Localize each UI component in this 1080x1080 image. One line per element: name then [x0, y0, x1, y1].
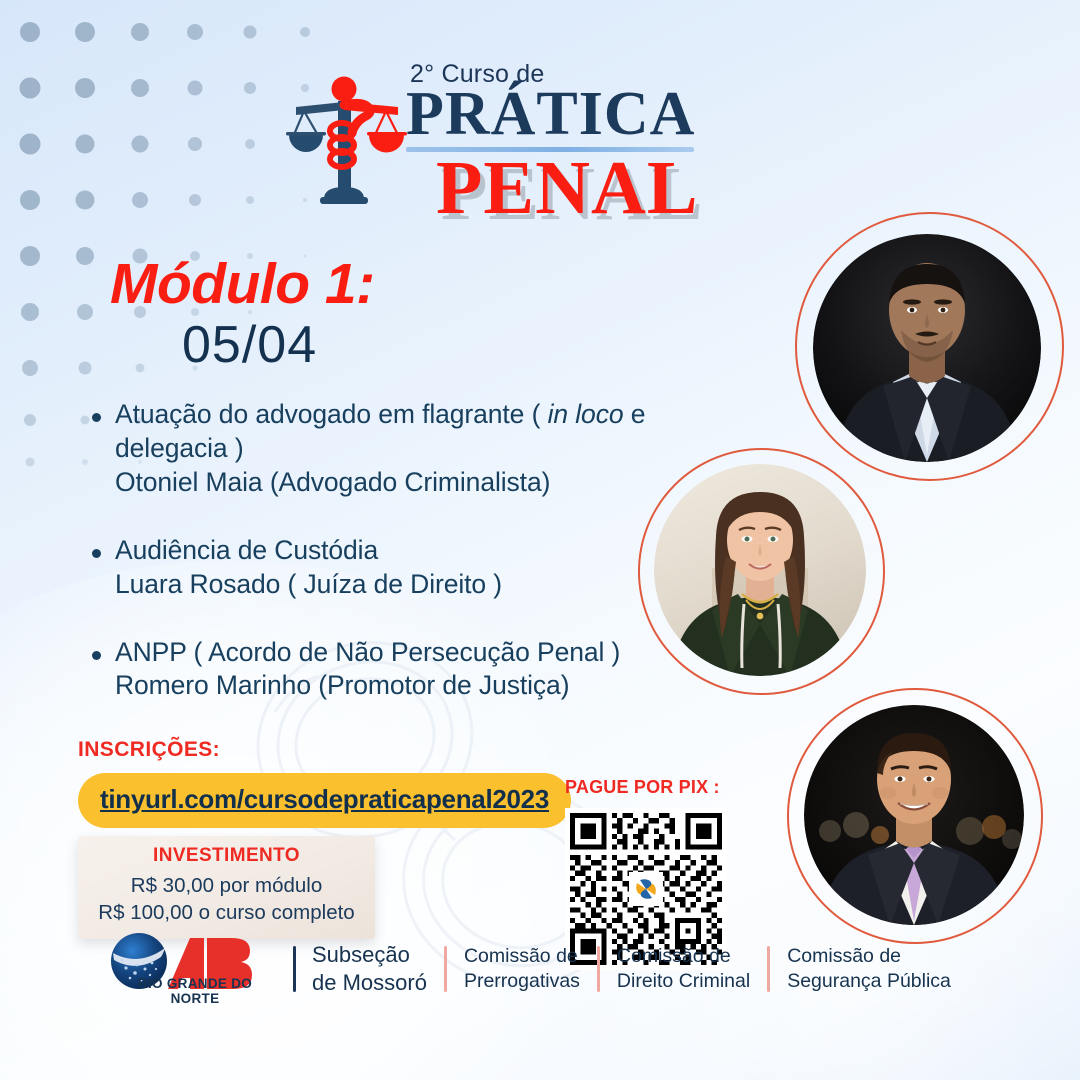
list-item: Atuação do advogado em flagrante ( in lo… — [92, 398, 712, 500]
header-title-block: 2° Curso de PRÁTICA PENAL — [404, 60, 724, 224]
commission-line1: Comissão de — [617, 944, 750, 969]
signup-block: INSCRIÇÕES: tinyurl.com/cursodepraticape… — [78, 738, 528, 828]
portrait-otoniel-maia — [795, 212, 1065, 482]
commission-line2: Direito Criminal — [617, 969, 750, 994]
commission-line1: Comissão de — [787, 944, 951, 969]
portrait-romero-marinho — [787, 688, 1045, 946]
title-penal: PENAL — [436, 154, 724, 224]
topic-title-pre: Atuação do advogado em flagrante ( — [115, 399, 548, 429]
footer-divider — [597, 946, 600, 992]
footer-divider — [767, 946, 770, 992]
list-item: ANPP ( Acordo de Não Persecução Penal ) … — [92, 636, 712, 704]
footer-divider — [444, 946, 447, 992]
commission-line2: Prerrogativas — [464, 969, 580, 994]
investment-price-full: R$ 100,00 o curso completo — [88, 899, 365, 926]
commission-direito-criminal: Comissão de Direito Criminal — [617, 944, 750, 995]
topic-title: Audiência de Custódia — [115, 534, 712, 568]
qr-center-logo — [629, 872, 663, 906]
bullet-icon — [92, 651, 101, 660]
signup-label: INSCRIÇÕES: — [78, 738, 528, 762]
topic-speaker: Otoniel Maia (Advogado Criminalista) — [115, 466, 712, 500]
pix-label: PAGUE POR PIX : — [565, 777, 755, 798]
commission-prerrogativas: Comissão de Prerrogativas — [464, 944, 580, 995]
oab-subsection-line2: de Mossoró — [312, 969, 427, 997]
topic-title-emphasis: in loco — [548, 399, 624, 429]
bullet-icon — [92, 549, 101, 558]
footer-divider — [293, 946, 296, 992]
portrait-image — [654, 464, 866, 676]
portrait-luara-rosado — [638, 448, 888, 698]
topic-title: ANPP ( Acordo de Não Persecução Penal ) — [115, 636, 712, 670]
topic-title: Atuação do advogado em flagrante ( in lo… — [115, 398, 712, 466]
module-title: Módulo 1: — [110, 256, 530, 313]
topics-list: Atuação do advogado em flagrante ( in lo… — [92, 398, 712, 737]
title-pratica: PRÁTICA — [406, 85, 724, 144]
module-block: Módulo 1: 05/04 — [110, 256, 530, 371]
topic-speaker: Luara Rosado ( Juíza de Direito ) — [115, 568, 712, 602]
commission-line1: Comissão de — [464, 944, 580, 969]
portrait-image — [813, 234, 1041, 462]
portrait-image — [804, 705, 1024, 925]
topic-speaker: Romero Marinho (Promotor de Justiça) — [115, 669, 712, 703]
oab-logo: RIO GRANDE DO NORTE — [108, 932, 271, 1006]
footer-bar: RIO GRANDE DO NORTE Subseção de Mossoró … — [108, 932, 951, 1006]
pix-brand-icon — [631, 874, 661, 904]
module-date: 05/04 — [182, 319, 530, 371]
signup-url-button[interactable]: tinyurl.com/cursodepraticapenal2023 — [78, 773, 571, 828]
poster-canvas: 2° Curso de PRÁTICA PENAL Módulo 1: 05/0… — [0, 0, 1080, 1080]
investment-heading: INVESTIMENTO — [88, 845, 365, 867]
oab-subsection: Subseção de Mossoró — [312, 941, 427, 996]
oab-state-label: RIO GRANDE DO NORTE — [120, 976, 270, 1006]
list-item: Audiência de Custódia Luara Rosado ( Juí… — [92, 534, 712, 602]
commission-seguranca-publica: Comissão de Segurança Pública — [787, 944, 951, 995]
scales-of-justice-icon — [286, 75, 408, 207]
bullet-icon — [92, 413, 101, 422]
investment-box: INVESTIMENTO R$ 30,00 por módulo R$ 100,… — [78, 836, 375, 939]
investment-price-module: R$ 30,00 por módulo — [88, 872, 365, 899]
poster-header: 2° Curso de PRÁTICA PENAL — [286, 60, 716, 210]
commission-line2: Segurança Pública — [787, 969, 951, 994]
oab-subsection-line1: Subseção — [312, 941, 427, 969]
